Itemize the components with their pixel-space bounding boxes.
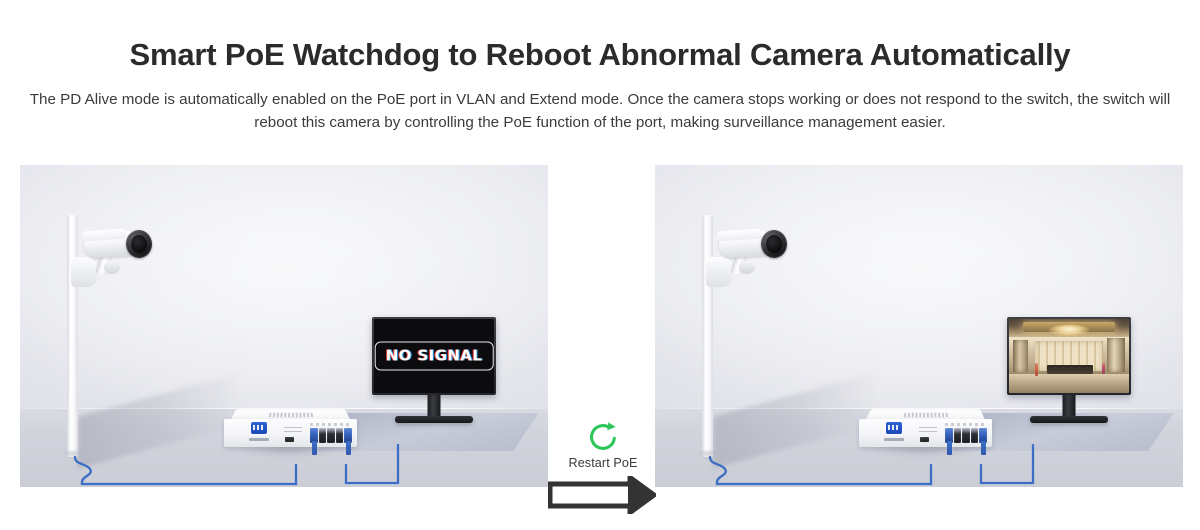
right-arrow-outline-icon [548, 476, 656, 514]
monitor-stand-base [395, 416, 473, 423]
monitor [1007, 317, 1131, 433]
no-signal-text: NO SIGNAL [386, 347, 483, 365]
monitor-bezel [1007, 317, 1131, 395]
switch-port-2[interactable] [954, 428, 962, 443]
switch-port-1[interactable] [310, 428, 318, 443]
pole-base-shadow [697, 451, 718, 459]
lobby-reception-desk [1047, 365, 1093, 374]
switch-brand-logo-icon [251, 422, 267, 434]
switch-port-labels [310, 423, 352, 426]
poe-switch [224, 405, 357, 449]
refresh-circular-arrow-icon [586, 420, 620, 454]
switch-top-branding [268, 413, 312, 417]
poe-watchdog-page: Smart PoE Watchdog to Reboot Abnormal Ca… [0, 0, 1200, 520]
switch-port-4[interactable] [971, 428, 979, 443]
monitor-stand-neck [1063, 395, 1076, 417]
switch-port-1[interactable] [945, 428, 953, 443]
lobby-chandelier [1049, 325, 1090, 336]
switch-rj45-ports [945, 428, 987, 443]
camera-joint [104, 261, 120, 274]
switch-port-5[interactable] [979, 428, 987, 443]
pole-mounted-bullet-camera [74, 227, 158, 287]
switch-front-face [859, 419, 992, 447]
switch-led-indicators [284, 427, 302, 436]
lobby-right-column [1107, 338, 1125, 372]
switch-front-face [224, 419, 357, 447]
switch-port-3[interactable] [327, 428, 335, 443]
camera-bracket [706, 257, 732, 287]
switch-model-label [249, 438, 269, 441]
monitor-screen: NO SIGNAL [374, 319, 494, 393]
page-subtitle: The PD Alive mode is automatically enabl… [20, 88, 1180, 134]
switch-port-4[interactable] [336, 428, 344, 443]
switch-model-label [884, 438, 904, 441]
switch-port-labels [945, 423, 987, 426]
camera-joint [739, 261, 755, 274]
monitor-bezel: NO SIGNAL [372, 317, 496, 395]
lobby-person-left [1035, 363, 1038, 376]
no-signal-badge: NO SIGNAL [375, 342, 494, 371]
monitor: NO SIGNAL [372, 317, 496, 433]
pole-base-shadow [62, 451, 83, 459]
camera-bracket [71, 257, 97, 287]
page-title: Smart PoE Watchdog to Reboot Abnormal Ca… [0, 38, 1200, 72]
restart-poe-label: Restart PoE [548, 456, 658, 470]
lobby-marble-floor [1009, 374, 1129, 393]
before-restart-scene: NO SIGNAL [20, 165, 548, 487]
live-video-feed-hotel-lobby [1009, 319, 1129, 393]
switch-top-branding [903, 413, 947, 417]
monitor-screen [1009, 319, 1129, 393]
switch-port-2[interactable] [319, 428, 327, 443]
header: Smart PoE Watchdog to Reboot Abnormal Ca… [0, 0, 1200, 134]
monitor-stand-neck [428, 395, 441, 417]
switch-mode-button[interactable] [285, 437, 294, 442]
switch-brand-logo-icon [886, 422, 902, 434]
switch-rj45-ports [310, 428, 352, 443]
switch-led-indicators [919, 427, 937, 436]
switch-port-5[interactable] [344, 428, 352, 443]
scene-comparison: NO SIGNAL [0, 165, 1200, 487]
restart-transition: Restart PoE [548, 420, 658, 530]
after-restart-scene [655, 165, 1183, 487]
lobby-left-column [1013, 340, 1029, 373]
monitor-stand-base [1030, 416, 1108, 423]
switch-mode-button[interactable] [920, 437, 929, 442]
poe-switch [859, 405, 992, 449]
switch-port-3[interactable] [962, 428, 970, 443]
pole-mounted-bullet-camera [709, 227, 793, 287]
lobby-person-right [1102, 362, 1105, 374]
